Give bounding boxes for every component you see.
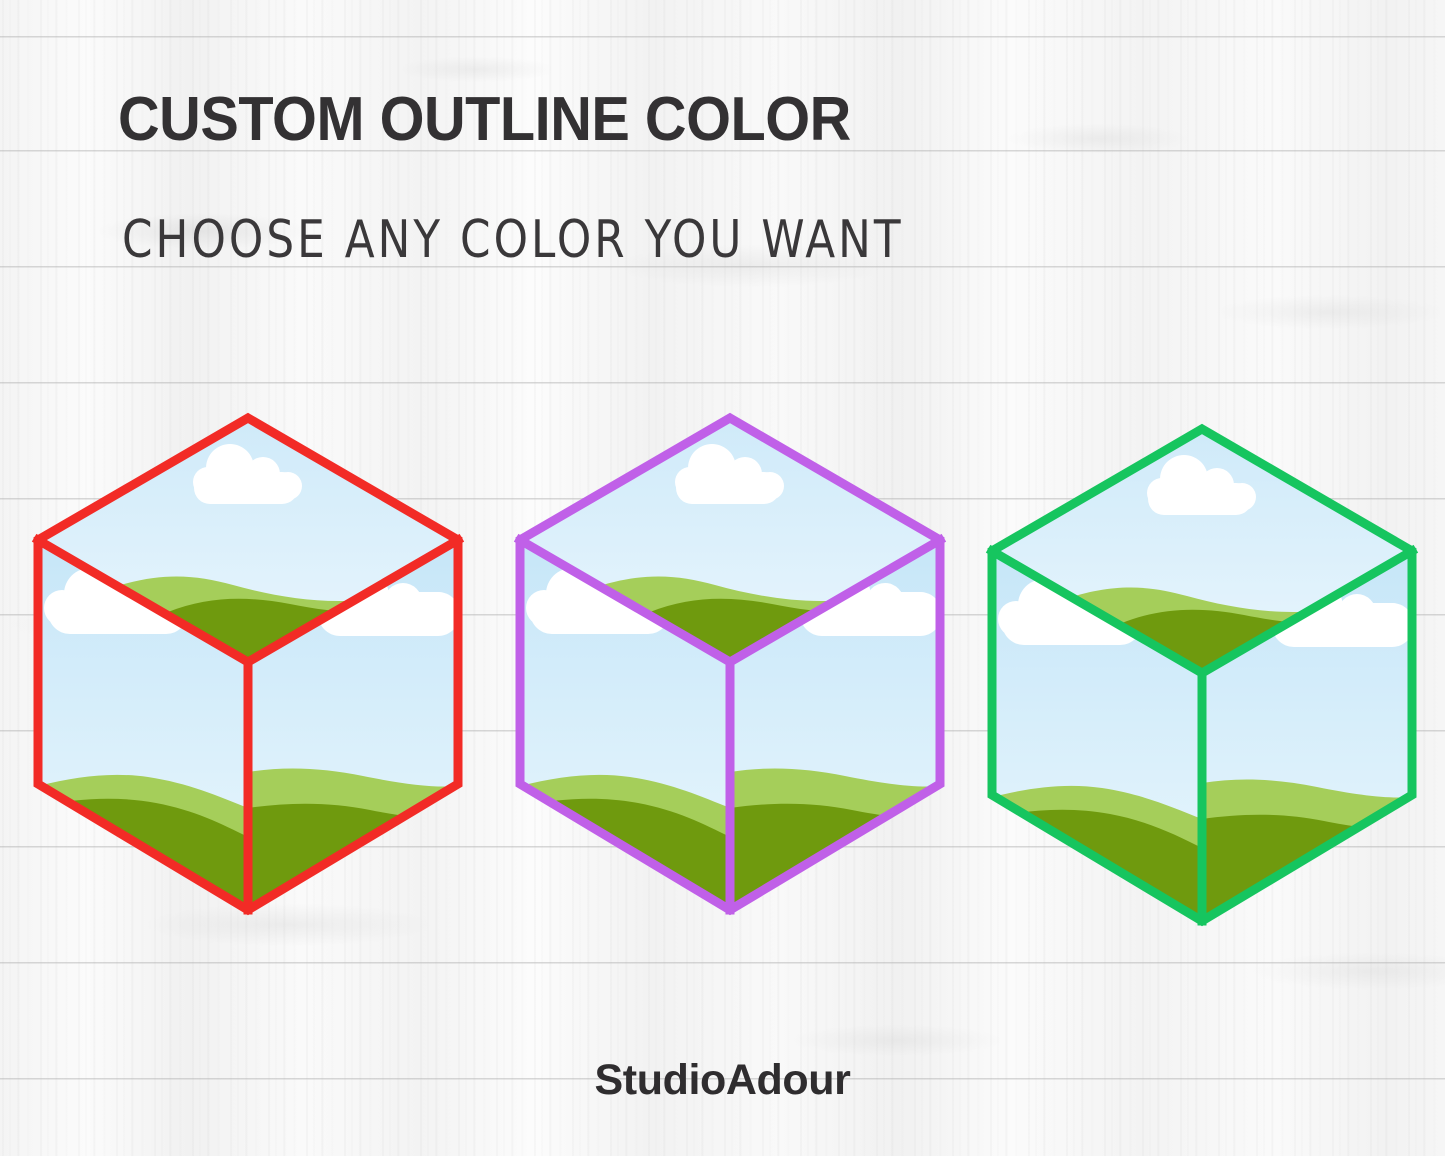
plank-seam-0 bbox=[0, 36, 1445, 38]
cube-purple[interactable] bbox=[500, 404, 960, 924]
page-title: CUSTOM OUTLINE COLOR bbox=[118, 84, 851, 155]
plank-seam-3 bbox=[0, 382, 1445, 384]
page-subtitle: CHOOSE ANY COLOR YOU WANT bbox=[122, 209, 904, 269]
plank-seam-8 bbox=[0, 962, 1445, 964]
brand-wordmark: StudioAdour bbox=[0, 1056, 1445, 1105]
cube-green[interactable] bbox=[972, 415, 1432, 935]
poster-canvas: CUSTOM OUTLINE COLOR CHOOSE ANY COLOR YO… bbox=[0, 0, 1445, 1156]
cube-red[interactable] bbox=[18, 404, 478, 924]
